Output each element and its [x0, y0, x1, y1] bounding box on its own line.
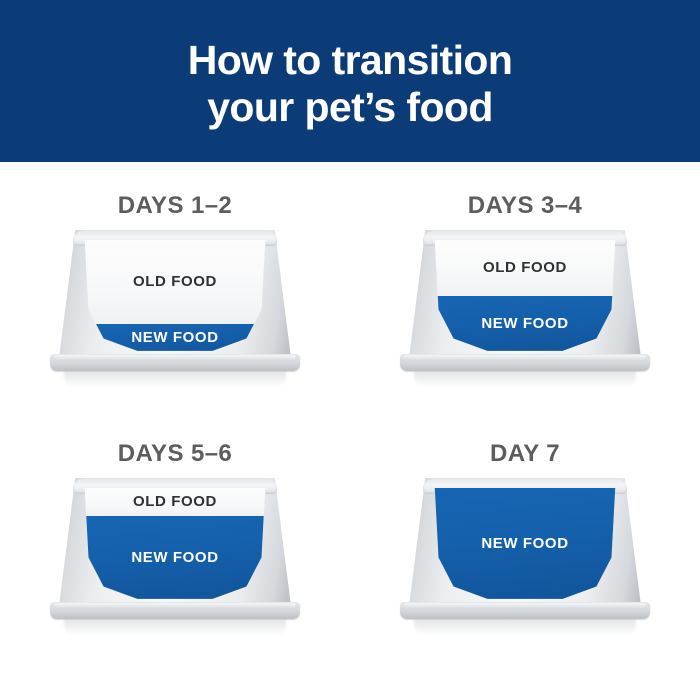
page-title-line-2: your pet’s food [207, 84, 493, 131]
bowl-reflection-1 [64, 371, 286, 387]
old-food-fill-1: OLD FOOD [81, 240, 269, 324]
food-bowl-1: OLD FOOD NEW FOOD [50, 230, 300, 390]
bowl-base-1 [50, 354, 300, 371]
steps-grid: DAYS 1–2 OLD FOOD NEW FOOD DAYS 3–4 [0, 162, 700, 700]
bowl-reflection-2 [414, 371, 636, 387]
step-title-4: DAY 7 [350, 440, 700, 468]
new-food-fill-4: NEW FOOD [431, 488, 619, 600]
step-panel-1: DAYS 1–2 OLD FOOD NEW FOOD [0, 162, 350, 410]
old-food-label-3: OLD FOOD [81, 493, 269, 510]
bowl-well-3: OLD FOOD NEW FOOD [81, 488, 269, 600]
old-food-label-1: OLD FOOD [81, 273, 269, 290]
step-panel-2: DAYS 3–4 OLD FOOD NEW FOOD [350, 162, 700, 410]
header-banner: How to transition your pet’s food [0, 0, 700, 162]
old-food-label-2: OLD FOOD [431, 259, 619, 276]
bowl-well-4: NEW FOOD [431, 488, 619, 600]
step-title-1: DAYS 1–2 [0, 192, 350, 220]
step-title-3: DAYS 5–6 [0, 440, 350, 468]
new-food-label-3: NEW FOOD [81, 549, 269, 566]
bowl-base-2 [400, 354, 650, 371]
bowl-base-4 [400, 602, 650, 619]
bowl-reflection-4 [414, 619, 636, 635]
food-bowl-3: OLD FOOD NEW FOOD [50, 478, 300, 638]
page-title-line-1: How to transition [188, 37, 513, 84]
infographic-root: How to transition your pet’s food DAYS 1… [0, 0, 700, 700]
bowl-reflection-3 [64, 619, 286, 635]
food-bowl-2: OLD FOOD NEW FOOD [400, 230, 650, 390]
step-title-2: DAYS 3–4 [350, 192, 700, 220]
step-panel-4: DAY 7 NEW FOOD [350, 410, 700, 658]
food-bowl-4: NEW FOOD [400, 478, 650, 638]
old-food-fill-3: OLD FOOD [81, 488, 269, 516]
old-food-fill-2: OLD FOOD [431, 240, 619, 296]
bowl-well-1: OLD FOOD NEW FOOD [81, 240, 269, 352]
bowl-base-3 [50, 602, 300, 619]
step-panel-3: DAYS 5–6 OLD FOOD NEW FOOD [0, 410, 350, 658]
new-food-label-2: NEW FOOD [431, 315, 619, 332]
bowl-well-2: OLD FOOD NEW FOOD [431, 240, 619, 352]
new-food-label-4: NEW FOOD [431, 535, 619, 552]
new-food-fill-3: NEW FOOD [81, 516, 269, 600]
